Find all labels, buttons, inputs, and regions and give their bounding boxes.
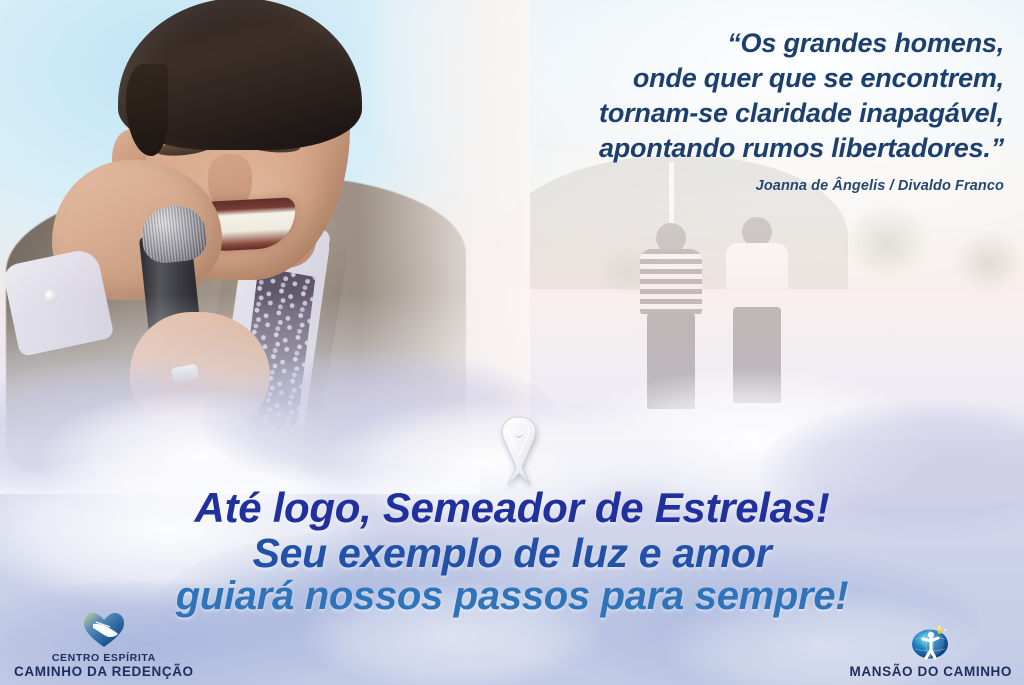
photo-person-legs bbox=[733, 307, 781, 403]
logo-right-name: MANSÃO DO CAMINHO bbox=[850, 664, 1012, 679]
white-mourning-ribbon-icon bbox=[486, 409, 552, 493]
quote-line-3: tornam-se claridade inapagável, bbox=[444, 96, 1004, 131]
quote-line-4: apontando rumos libertadores.” bbox=[444, 131, 1004, 166]
photo-palm-tree bbox=[822, 185, 953, 301]
shirt-cuff bbox=[1, 247, 114, 357]
quote-line-2: onde quer que se encontrem, bbox=[444, 61, 1004, 96]
logo-right-text: MANSÃO DO CAMINHO bbox=[850, 664, 1012, 679]
photo-railing bbox=[832, 295, 933, 341]
hair bbox=[118, 0, 362, 150]
logo-left-text: CENTRO ESPÍRITA CAMINHO DA REDENÇÃO bbox=[14, 652, 194, 679]
headline-line-2: Seu exemplo de luz e amor bbox=[0, 532, 1024, 575]
headline-line-1: Até logo, Semeador de Estrelas! bbox=[0, 486, 1024, 530]
logo-mansao-do-caminho: MANSÃO DO CAMINHO bbox=[850, 623, 1012, 679]
globe-figure-flame-icon bbox=[909, 623, 953, 661]
logo-left-line-1: CENTRO ESPÍRITA bbox=[14, 652, 194, 664]
portrait-photo bbox=[0, 0, 470, 464]
quote-line-1: “Os grandes homens, bbox=[444, 26, 1004, 61]
hand-holding-microphone bbox=[130, 312, 270, 430]
heart-hand-icon bbox=[82, 611, 126, 649]
cuff-button bbox=[44, 290, 57, 303]
memorial-poster: “Os grandes homens, onde quer que se enc… bbox=[0, 0, 1024, 685]
quote-block: “Os grandes homens, onde quer que se enc… bbox=[444, 26, 1004, 194]
photo-person-torso bbox=[640, 249, 702, 315]
photo-person-torso bbox=[726, 243, 788, 309]
logo-centro-espirita: CENTRO ESPÍRITA CAMINHO DA REDENÇÃO bbox=[14, 611, 194, 679]
quote-author: Joanna de Ângelis / Divaldo Franco bbox=[444, 178, 1004, 194]
logo-left-line-2: CAMINHO DA REDENÇÃO bbox=[14, 664, 194, 679]
photo-person-legs bbox=[647, 313, 695, 409]
headline-block: Até logo, Semeador de Estrelas! Seu exem… bbox=[0, 486, 1024, 618]
